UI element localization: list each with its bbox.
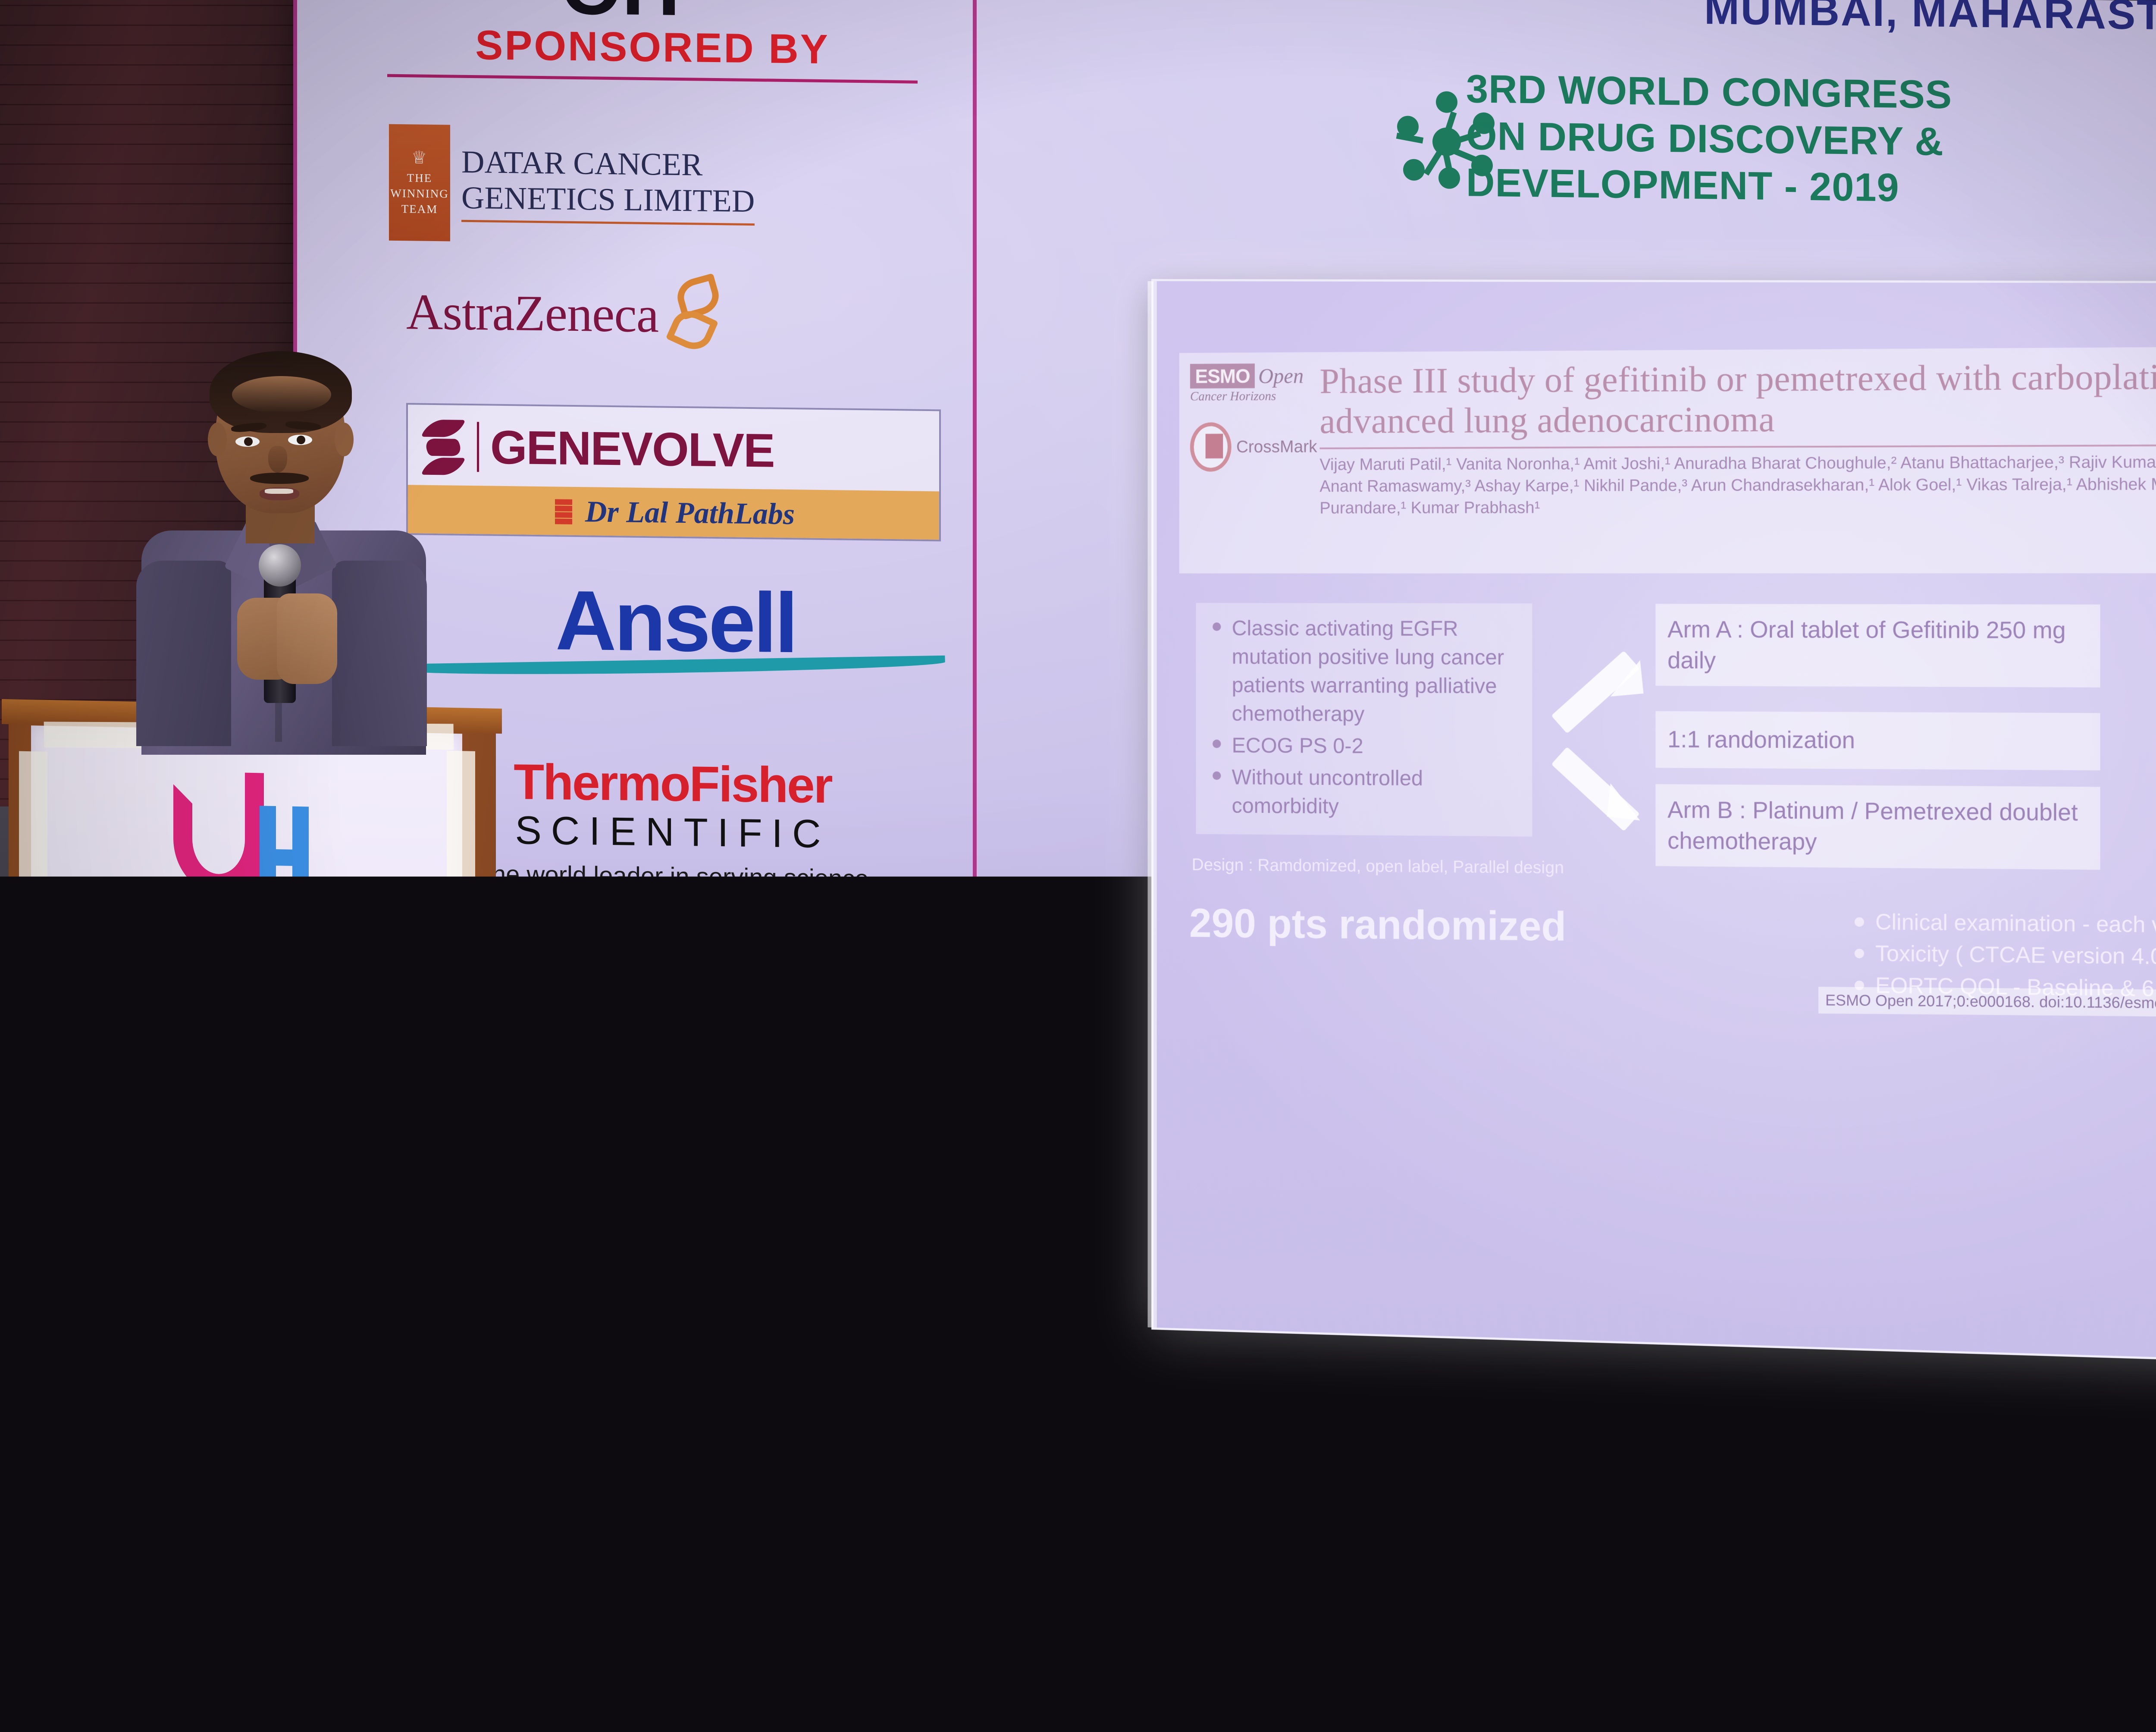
podium-poster: PRESENT WORLD CANCER CONGRESS DRUG DISCO… <box>31 725 462 1549</box>
sponsor-logo-ansell: Ansell <box>406 580 945 679</box>
speaker-mouth <box>260 487 299 500</box>
sponsor-row-3: ARJYOPA An Open Access Publisher ThermoF… <box>53 1308 442 1371</box>
molecule-icon <box>70 1054 130 1116</box>
assessment-bullet-1: Clinical examination - each visit <box>1849 909 2156 942</box>
speaker-ear-right <box>335 423 354 456</box>
dr-lal-pathlabs-wordmark: Dr Lal PathLabs <box>585 495 795 532</box>
ah-logo-icon <box>173 767 316 920</box>
badge-line-1: THE <box>62 1259 76 1268</box>
advanced-biotech-triangle-icon <box>53 1381 81 1409</box>
screen-left-edge <box>1148 281 1157 1327</box>
eligibility-bullet-1: Classic activating EGFR mutation positiv… <box>1206 614 1522 729</box>
dot-blue <box>317 1481 337 1494</box>
podium-sponsored-by-heading: SPONSORED BY <box>31 1126 462 1171</box>
speaker <box>108 358 436 746</box>
datar-wordmark: DATAR CANCER GENETICS LIMITED <box>461 144 755 226</box>
world-cancer-congress-label: WORLD CANCER CONGRESS <box>135 999 413 1026</box>
ansell-wordmark: Ansell <box>406 580 945 664</box>
astrazeneca-ribbon-icon <box>411 1259 439 1296</box>
chromosome-icon <box>72 976 128 1042</box>
dd-line-2: ON DRUG DISCOVERY & <box>1466 113 2104 167</box>
datar-line-2: GENETICS LIMITED <box>461 180 755 219</box>
speaker-eye-right <box>288 435 312 445</box>
slide-citation: ESMO Open 2017;0:e000168. doi:10.1136/es… <box>1818 987 2156 1019</box>
foreground-shadow <box>0 1570 2156 1732</box>
sponsor-logo-datar-cancer-genetics: ♕ THE WINNING TEAM DATAR CANCER GENETICS… <box>389 124 924 247</box>
esmo-open-logo: ESMO Open <box>1190 363 1317 389</box>
dr-lal-pathlabs-wordmark: Dr Lal PathLabs <box>55 1209 259 1236</box>
speaker-arm-right <box>332 561 427 746</box>
pod-sponsor-advanced-biotech: ADVANCED BIOTECH PRODUCTS (P) Ltd -ADVAN… <box>53 1373 433 1439</box>
thermofisher-tagline: The world leader in serving science <box>278 1355 442 1371</box>
assessment-bullet-2: Toxicity ( CTCAE version 4.03)- each vis… <box>1849 940 2156 974</box>
arjyopa-text-block: ARJYOPA An Open Access Publisher <box>97 1316 246 1360</box>
slide-authors: Vijay Maruti Patil,¹ Vanita Noronha,¹ Am… <box>1319 451 2156 519</box>
astrazeneca-ribbon-icon <box>667 274 732 357</box>
sponsored-by-heading: SPONSORED BY <box>387 21 918 84</box>
pod-sponsor-genevolve: GENEVOLVE Dr Lal PathLabs <box>53 1172 260 1237</box>
event-world-cancer-congress: WORLD CANCER CONGRESS <box>72 976 413 1048</box>
thermofisher-wordmark: ThermoFisher <box>278 1312 442 1338</box>
study-design-line: Design : Ramdomized, open label, Paralle… <box>1192 855 1564 878</box>
dot-red <box>233 1479 253 1493</box>
pod-sponsor-infinity2infinity: Infinity2Infinity I2I <box>53 1436 433 1499</box>
dna-helix-icon <box>59 1177 81 1206</box>
badge-line-2: WINNING <box>390 187 448 201</box>
winning-team-badge: ♕ THE WINNING TEAM <box>389 124 450 242</box>
i2i-chip-icon: I2I <box>373 1450 426 1490</box>
drug-discovery-lines: 3RD WORLD CONGRESS ON DRUG DISCOVERY & D… <box>1466 66 2104 214</box>
microphone-head-icon <box>259 544 301 587</box>
arjyopa-wordmark: ARJYOPA <box>97 1314 219 1347</box>
arjyopa-text-block: ARJYOPA An Open Access Publisher <box>512 941 809 1029</box>
pod-sponsor-ansell: Ansell <box>282 1184 442 1233</box>
pod-sponsor-astrazeneca: AstraZeneca <box>282 1256 442 1296</box>
dot-green <box>148 1478 168 1491</box>
eligibility-bullet-3: Without uncontrolled comorbidity <box>1206 763 1522 822</box>
ansell-wordmark: Ansell <box>282 1184 442 1225</box>
esmo-mark: ESMO <box>1190 364 1255 389</box>
podium: PRESENT WORLD CANCER CONGRESS DRUG DISCO… <box>9 711 496 1609</box>
sponsor-row-1: GENEVOLVE Dr Lal PathLabs Ansell <box>53 1172 442 1241</box>
badge-line-3: TEAM <box>59 1274 79 1283</box>
crossmark-label: CrossMark <box>1236 437 1317 456</box>
speaker-moustache <box>250 473 309 484</box>
pathlabs-barcode-icon <box>552 498 575 525</box>
badge-line-1: THE <box>407 171 432 185</box>
sponsor-logo-genevolve: GENEVOLVE Dr Lal PathLabs <box>406 403 941 541</box>
speaker-nose <box>268 446 287 473</box>
speaker-ear-left <box>208 423 227 456</box>
datar-line-1: DATAR CANCER <box>461 144 702 182</box>
genevolve-wordmark: GENEVOLVE <box>490 420 774 478</box>
slide-title: Phase III study of gefitinib or pemetrex… <box>1319 355 2156 442</box>
datar-line-1: DATAR CANCER <box>90 1252 248 1274</box>
genevolve-row: GENEVOLVE <box>408 405 939 491</box>
arm-b-box: Arm B : Platinum / Pemetrexed doublet ch… <box>1655 784 2100 870</box>
pod-sponsor-thermo-fisher: ThermoFisher SCIENTIFIC The world leader… <box>278 1312 442 1371</box>
dd-line-1: 3RD WORLD CONGRESS <box>1466 66 2104 120</box>
projection-screen: ESMO Open Cancer Horizons CrossMark Phas… <box>1151 279 2156 1371</box>
title-rule <box>1319 444 2156 449</box>
patients-randomized-line: 290 pts randomized <box>1189 900 1566 950</box>
slide-journal-logos: ESMO Open Cancer Horizons CrossMark <box>1179 352 1317 574</box>
esmo-open-word: Open <box>1258 363 1304 388</box>
speaker-hand-right <box>277 593 337 684</box>
speaker-hair <box>210 351 352 433</box>
winning-team-badge: THE WINNING TEAM <box>53 1243 85 1299</box>
slide-title-block: Phase III study of gefitinib or pemetrex… <box>1317 345 2156 574</box>
eligibility-bullet-2: ECOG PS 0-2 <box>1206 731 1522 761</box>
randomization-arrow-icon <box>1545 648 1643 838</box>
speaker-arm-left <box>136 561 231 746</box>
sponsor-logo-astrazeneca: AstraZeneca <box>406 271 945 359</box>
thermofisher-scientific-word: SCIENTIFIC <box>278 1335 442 1357</box>
advanced-biotech-wordmark: ADVANCED BIOTECH PRODUCTS (P) Ltd <box>86 1374 433 1425</box>
dd-line-3: DEVELOPMENT - 2019 <box>1466 159 2104 214</box>
photo-scene: CH SPONSORED BY ♕ THE WINNING TEAM DATAR… <box>0 0 2156 1732</box>
event-drug-discovery-development: DRUG DISCOVERY AND DEVELOPMENT <box>70 1054 353 1120</box>
arm-a-box: Arm A : Oral tablet of Gefitinib 250 mg … <box>1655 604 2100 687</box>
crown-icon: ♕ <box>411 149 428 166</box>
badge-line-3: TEAM <box>401 202 438 216</box>
datar-line-2: GENETICS LIMITED <box>90 1271 248 1293</box>
astrazeneca-wordmark: AstraZeneca <box>284 1261 408 1292</box>
speaker-eye-left <box>235 436 260 447</box>
genevolve-wordmark: GENEVOLVE <box>86 1178 236 1210</box>
astrazeneca-wordmark: AstraZeneca <box>406 282 658 344</box>
eligibility-bullets: Classic activating EGFR mutation positiv… <box>1196 603 1532 837</box>
arjyopa-wordmark: ARJYOPA <box>512 941 809 1000</box>
presentation-slide: ESMO Open Cancer Horizons CrossMark Phas… <box>1179 347 2156 1320</box>
sponsor-logo-arjyopa: ARJYOPA An Open Access Publisher <box>423 933 966 1039</box>
randomization-box: 1:1 randomization <box>1655 711 2100 770</box>
genevolve-rule <box>477 422 479 472</box>
ddd-label-line-2: DEVELOPMENT <box>147 1086 353 1111</box>
badge-line-2: WINNING <box>53 1267 85 1275</box>
ddd-label: DRUG DISCOVERY AND DEVELOPMENT <box>147 1065 353 1111</box>
tape-left <box>19 751 47 1511</box>
present-label: PRESENT <box>31 927 462 979</box>
slide-title-card: ESMO Open Cancer Horizons CrossMark Phas… <box>1179 345 2156 574</box>
esmo-sub-line: Cancer Horizons <box>1190 389 1317 404</box>
crossmark-logo: CrossMark <box>1190 422 1317 471</box>
sponsor-logo-dr-lal-pathlabs: Dr Lal PathLabs <box>408 485 939 540</box>
ddd-divider <box>138 1067 139 1104</box>
crossmark-icon <box>1190 422 1231 471</box>
sponsor-row-2: THE WINNING TEAM DATAR CANCER GENETICS L… <box>53 1243 442 1305</box>
arjyopa-tagline: An Open Access Publisher <box>512 999 809 1029</box>
arjyopa-ah-icon <box>53 1312 95 1361</box>
pod-sponsor-datar: THE WINNING TEAM DATAR CANCER GENETICS L… <box>53 1243 260 1302</box>
tape-right <box>447 751 475 1523</box>
pod-sponsor-arjyopa: ARJYOPA An Open Access Publisher <box>53 1312 260 1364</box>
datar-wordmark: DATAR CANCER GENETICS LIMITED <box>90 1252 248 1294</box>
podium-sponsor-grid: GENEVOLVE Dr Lal PathLabs Ansell THE WIN… <box>53 1172 442 1499</box>
arjyopa-tagline: An Open Access Publisher <box>97 1343 246 1360</box>
